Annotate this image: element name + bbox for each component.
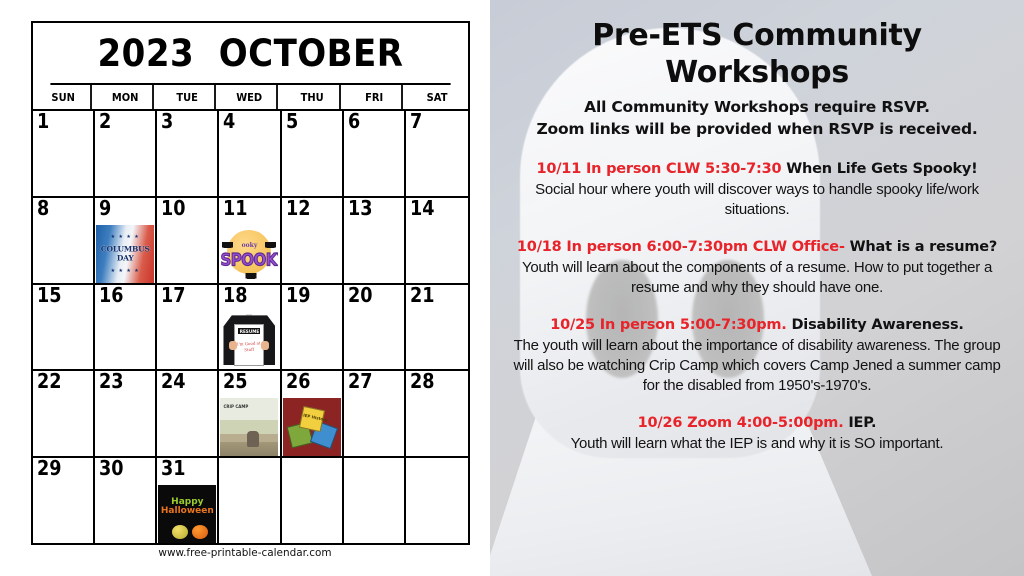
event-item-1025: 10/25 In person 5:00-7:30pm. Disability … <box>504 316 1010 396</box>
day-cell[interactable]: 28 <box>406 371 468 456</box>
workshops-info-panel: Pre-ETS Community Workshops All Communit… <box>490 0 1024 576</box>
day-cell-iep[interactable]: 26 IEP History <box>282 371 344 456</box>
weekday-tue: TUE <box>160 85 216 109</box>
event-item-1011: 10/11 In person CLW 5:30-7:30 When Life … <box>504 160 1010 220</box>
event-title: IEP. <box>844 415 877 431</box>
event-description: The youth will learn about the importanc… <box>504 336 1010 396</box>
crip-camp-poster-image: CRIP CAMP <box>220 398 278 456</box>
hand-shape <box>229 341 237 350</box>
day-cell[interactable]: 14 <box>406 198 468 283</box>
day-number: 9 <box>99 198 111 219</box>
day-number: 17 <box>161 285 186 306</box>
calendar-weekday-header-row: SUN MON TUE WED THU FRI SAT <box>33 85 468 111</box>
day-number: 22 <box>37 371 62 392</box>
day-cell[interactable]: 5 <box>282 111 344 196</box>
resume-image: RESUME I'm Good at Stuff <box>220 311 278 369</box>
calendar-weeks: 1 2 3 4 5 6 7 8 9 ★ ★ ★ ★ <box>33 111 468 543</box>
day-cell[interactable]: 30 <box>95 458 157 543</box>
day-number: 26 <box>286 371 311 392</box>
columbus-label-line1: COLUMBUS <box>96 244 154 253</box>
columbus-day-image: ★ ★ ★ ★ COLUMBUS DAY ★ ★ ★ ★ <box>96 225 154 283</box>
calendar-week-row: 15 16 17 18 RESUME <box>33 285 468 372</box>
day-cell[interactable] <box>344 458 406 543</box>
weekday-wed: WED <box>223 85 279 109</box>
event-heading: 10/11 In person CLW 5:30-7:30 When Life … <box>504 160 1010 179</box>
day-cell-spooky[interactable]: 11 ooky SPOOKY <box>219 198 281 283</box>
event-heading: 10/18 In person 6:00-7:30pm CLW Office- … <box>504 238 1010 257</box>
spooky-halloween-image: ooky SPOOKY <box>220 225 278 283</box>
day-number: 31 <box>161 458 186 479</box>
day-number: 4 <box>223 111 235 132</box>
pumpkin-icon <box>192 525 208 539</box>
event-item-1026: 10/26 Zoom 4:00-5:00pm. IEP. Youth will … <box>504 414 1010 454</box>
day-number: 16 <box>99 285 124 306</box>
day-cell[interactable]: 24 <box>157 371 219 456</box>
day-number: 11 <box>223 198 248 219</box>
hand-shape <box>261 341 269 350</box>
event-title: What is a resume? <box>845 239 997 255</box>
calendar-week-row: 1 2 3 4 5 6 7 <box>33 111 468 198</box>
rsvp-notice-line2: Zoom links will be provided when RSVP is… <box>504 119 1010 140</box>
day-number: 23 <box>99 371 124 392</box>
weekday-sat: SAT <box>409 85 465 109</box>
day-number: 10 <box>161 198 186 219</box>
resume-paper: RESUME I'm Good at Stuff <box>234 324 264 366</box>
crip-camp-title: CRIP CAMP <box>223 404 248 410</box>
day-number: 1 <box>37 111 49 132</box>
day-number: 27 <box>348 371 373 392</box>
calendar-panel: 2023 OCTOBER SUN MON TUE WED THU FRI SAT… <box>0 0 490 576</box>
day-cell[interactable]: 17 <box>157 285 219 370</box>
calendar-source-footer: www.free-printable-calendar.com <box>12 546 478 559</box>
day-cell[interactable]: 7 <box>406 111 468 196</box>
weekday-thu: THU <box>285 85 341 109</box>
stars-decoration: ★ ★ ★ ★ <box>96 268 154 274</box>
day-number: 21 <box>410 285 435 306</box>
day-cell[interactable]: 21 <box>406 285 468 370</box>
event-datetime: 10/25 In person 5:00-7:30pm. <box>550 317 786 333</box>
day-cell[interactable]: 20 <box>344 285 406 370</box>
columbus-label-line2: DAY <box>96 254 154 263</box>
event-description: Social hour where youth will discover wa… <box>504 180 1010 220</box>
day-number: 3 <box>161 111 173 132</box>
day-cell[interactable] <box>219 458 281 543</box>
spooky-big-text: SPOOKY <box>220 250 278 271</box>
day-number: 19 <box>286 285 311 306</box>
day-cell[interactable]: 8 <box>33 198 95 283</box>
spooky-small-text: ooky <box>220 242 278 249</box>
day-cell[interactable]: 1 <box>33 111 95 196</box>
bat-icon <box>245 273 256 279</box>
day-cell[interactable]: 16 <box>95 285 157 370</box>
day-number: 15 <box>37 285 62 306</box>
day-number: 12 <box>286 198 311 219</box>
rsvp-notice-line1: All Community Workshops require RSVP. <box>504 97 1010 118</box>
day-cell[interactable]: 6 <box>344 111 406 196</box>
day-cell[interactable]: 19 <box>282 285 344 370</box>
october-calendar: 2023 OCTOBER SUN MON TUE WED THU FRI SAT… <box>31 21 470 545</box>
gourd-icon <box>172 525 188 539</box>
event-heading: 10/25 In person 5:00-7:30pm. Disability … <box>504 316 1010 335</box>
day-number: 29 <box>37 458 62 479</box>
day-number: 8 <box>37 198 49 219</box>
event-item-1018: 10/18 In person 6:00-7:30pm CLW Office- … <box>504 238 1010 298</box>
weekday-mon: MON <box>98 85 154 109</box>
event-title: When Life Gets Spooky! <box>781 161 977 177</box>
event-description: Youth will learn what the IEP is and why… <box>504 434 1010 454</box>
day-cell[interactable]: 10 <box>157 198 219 283</box>
day-number: 6 <box>348 111 360 132</box>
day-cell[interactable]: 23 <box>95 371 157 456</box>
day-number: 28 <box>410 371 435 392</box>
day-cell[interactable]: 22 <box>33 371 95 456</box>
event-description: Youth will learn about the components of… <box>504 258 1010 298</box>
event-heading: 10/26 Zoom 4:00-5:00pm. IEP. <box>504 414 1010 433</box>
event-datetime: 10/18 In person 6:00-7:30pm CLW Office- <box>517 239 845 255</box>
day-number: 30 <box>99 458 124 479</box>
calendar-week-row: 29 30 31 Happy Halloween <box>33 458 468 543</box>
day-number: 25 <box>223 371 248 392</box>
happy-halloween-image: Happy Halloween <box>158 485 216 543</box>
halloween-line2: Halloween <box>158 507 216 516</box>
slide-root: 2023 OCTOBER SUN MON TUE WED THU FRI SAT… <box>0 0 1024 576</box>
event-datetime: 10/26 Zoom 4:00-5:00pm. <box>638 415 844 431</box>
info-content: Pre-ETS Community Workshops All Communit… <box>490 0 1024 454</box>
day-cell[interactable]: 29 <box>33 458 95 543</box>
event-title: Disability Awareness. <box>787 317 964 333</box>
iep-puzzle-image: IEP History <box>283 398 341 456</box>
resume-note: I'm Good at Stuff <box>235 341 264 354</box>
day-cell[interactable]: 12 <box>282 198 344 283</box>
day-number: 20 <box>348 285 373 306</box>
day-cell-resume[interactable]: 18 RESUME I'm Good at Stuff <box>219 285 281 370</box>
day-number: 14 <box>410 198 435 219</box>
day-number: 13 <box>348 198 373 219</box>
day-number: 18 <box>223 285 248 306</box>
day-number: 2 <box>99 111 111 132</box>
day-cell[interactable]: 27 <box>344 371 406 456</box>
day-cell-columbus-day[interactable]: 9 ★ ★ ★ ★ COLUMBUS DAY ★ ★ ★ ★ <box>95 198 157 283</box>
calendar-week-row: 22 23 24 25 CRIP CAMP <box>33 371 468 458</box>
calendar-week-row: 8 9 ★ ★ ★ ★ COLUMBUS DAY ★ ★ ★ ★ <box>33 198 468 285</box>
day-cell[interactable]: 4 <box>219 111 281 196</box>
weekday-fri: FRI <box>347 85 403 109</box>
day-cell[interactable]: 3 <box>157 111 219 196</box>
day-number: 7 <box>410 111 422 132</box>
day-number: 24 <box>161 371 186 392</box>
day-cell-crip-camp[interactable]: 25 CRIP CAMP <box>219 371 281 456</box>
day-cell[interactable] <box>282 458 344 543</box>
day-cell[interactable]: 13 <box>344 198 406 283</box>
calendar-title: 2023 OCTOBER <box>50 23 450 85</box>
page-title: Pre-ETS Community Workshops <box>504 18 1010 91</box>
day-cell[interactable] <box>406 458 468 543</box>
day-cell-halloween[interactable]: 31 Happy Halloween <box>157 458 219 543</box>
event-datetime: 10/11 In person CLW 5:30-7:30 <box>536 161 781 177</box>
person-shape <box>247 431 259 447</box>
day-number: 5 <box>286 111 298 132</box>
stars-decoration: ★ ★ ★ ★ <box>96 234 154 240</box>
resume-heading: RESUME <box>238 328 260 334</box>
day-cell[interactable]: 2 <box>95 111 157 196</box>
day-cell[interactable]: 15 <box>33 285 95 370</box>
weekday-sun: SUN <box>36 85 92 109</box>
